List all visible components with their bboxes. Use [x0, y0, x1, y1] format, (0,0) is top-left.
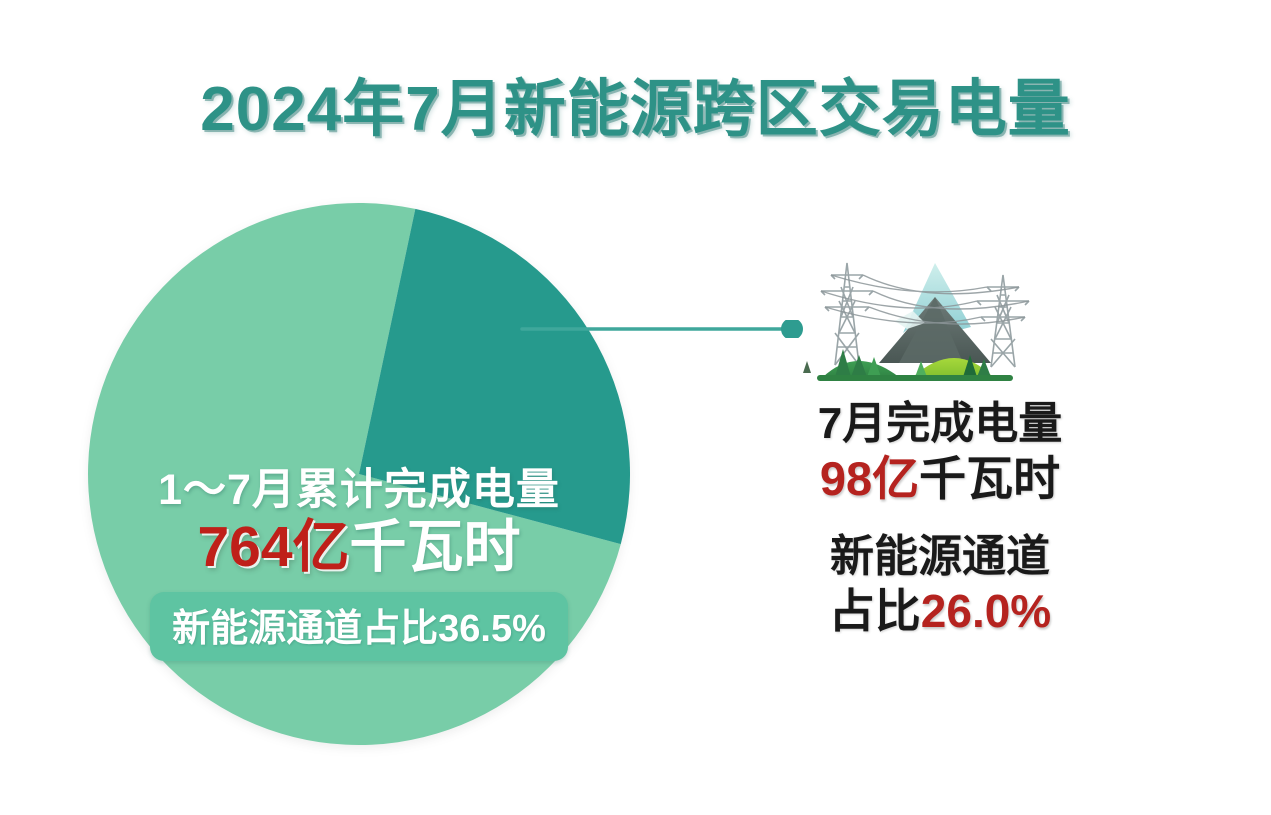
page-title: 2024年7月新能源跨区交易电量: [0, 58, 1271, 148]
power-transmission-towers-mountain-icon: [795, 245, 1055, 395]
callout-leader-line: [520, 320, 810, 338]
infographic-poster: 2024年7月新能源跨区交易电量 1～7月累计完成电量 764亿千瓦时 新能源通…: [0, 0, 1271, 815]
panel-spacer: [760, 507, 1120, 531]
month-label: 7月完成电量: [760, 398, 1120, 451]
pie-chart-labels: 1～7月累计完成电量 764亿千瓦时 新能源通道占比36.5%: [88, 466, 630, 661]
month-value-row: 98亿千瓦时: [760, 451, 1120, 507]
page-title-text: 2024年7月新能源跨区交易电量: [200, 58, 1070, 148]
status-badge: 新能源通道占比36.5%: [150, 592, 568, 661]
share-value: 26.0%: [921, 585, 1051, 637]
cumulative-label: 1～7月累计完成电量: [88, 466, 630, 514]
small-pine-tree: [803, 361, 811, 373]
cumulative-value-row: 764亿千瓦时: [88, 516, 630, 580]
cumulative-unit: 千瓦时: [350, 515, 521, 579]
callout-panel: 7月完成电量 98亿千瓦时 新能源通道 占比26.0%: [760, 398, 1120, 639]
ground-strip: [817, 375, 1013, 381]
month-unit: 千瓦时: [919, 452, 1060, 505]
status-badge-text: 新能源通道占比36.5%: [172, 608, 546, 650]
transmission-tower-left: [821, 263, 873, 365]
channel-label: 新能源通道: [760, 531, 1120, 584]
month-value: 98亿: [820, 452, 919, 505]
cumulative-value: 764亿: [197, 515, 349, 579]
badge-wrapper: 新能源通道占比36.5%: [88, 580, 630, 661]
share-row: 占比26.0%: [760, 584, 1120, 639]
share-label: 占比: [829, 585, 921, 637]
